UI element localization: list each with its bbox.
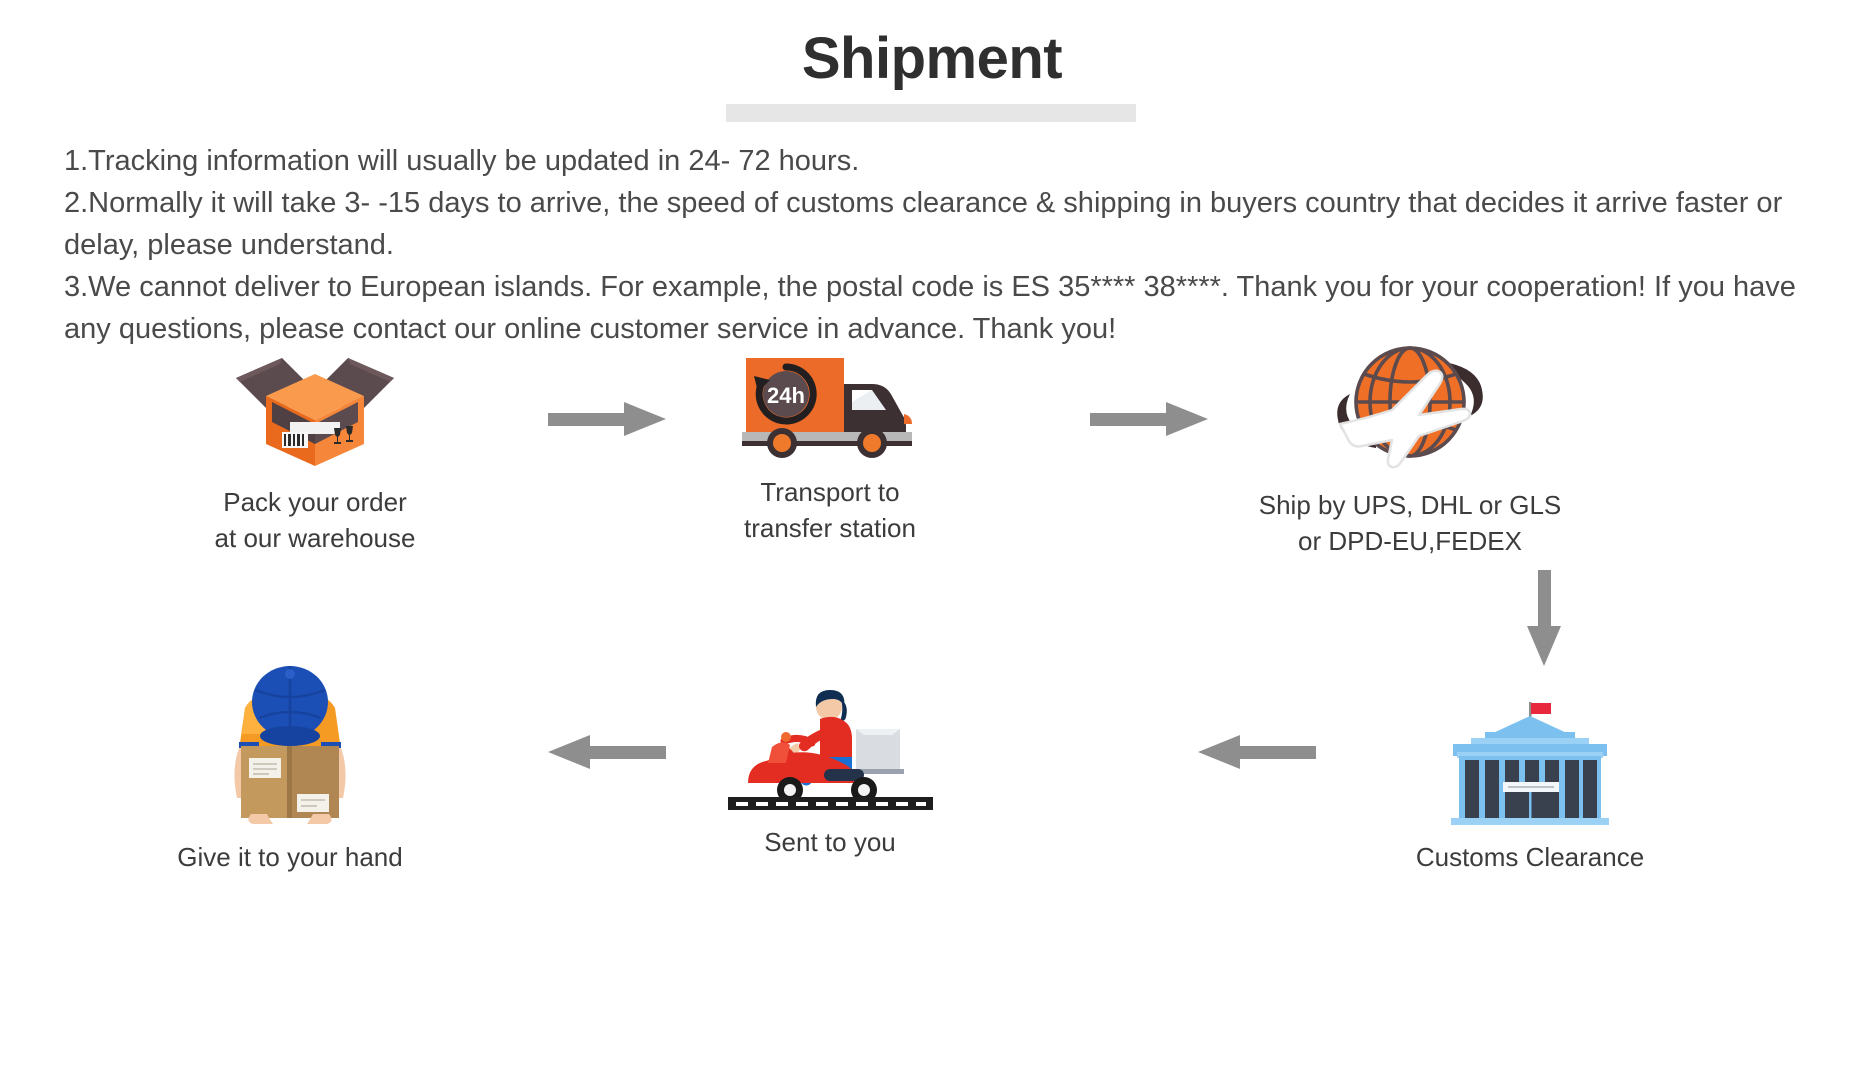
page-title-wrap: Shipment (0, 30, 1864, 88)
flow-step-transport: 24h Transport (690, 350, 970, 546)
arrow-shaft (548, 413, 626, 426)
arrow-head (1198, 735, 1240, 769)
courier-with-box-icon (215, 660, 365, 825)
shipment-notes: 1.Tracking information will usually be u… (64, 140, 1824, 350)
arrow-customs-to-sent (1198, 735, 1316, 769)
shipment-flow-diagram: Pack your order at our warehouse 24h (0, 330, 1864, 1030)
flow-step-ship-caption: Ship by UPS, DHL or GLS or DPD-EU,FEDEX (1180, 487, 1640, 559)
flow-step-handover: Give it to your hand (110, 660, 470, 875)
open-box-icon (230, 340, 400, 470)
flow-step-handover-caption: Give it to your hand (110, 839, 470, 875)
flow-step-customs: Customs Clearance (1360, 700, 1700, 875)
flow-step-pack-caption: Pack your order at our warehouse (150, 484, 480, 556)
page-title: Shipment (802, 30, 1062, 88)
flow-step-sent-caption: Sent to you (690, 824, 970, 860)
slide-canvas: Shipment 1.Tracking information will usu… (0, 0, 1864, 1080)
flow-step-sent: Sent to you (690, 685, 970, 860)
flow-step-ship: Ship by UPS, DHL or GLS or DPD-EU,FEDEX (1180, 338, 1640, 559)
note-line-1: 1.Tracking information will usually be u… (64, 140, 1824, 182)
arrow-shaft (588, 746, 666, 759)
globe-airplane-icon (1318, 338, 1503, 473)
svg-text:24h: 24h (767, 383, 805, 408)
arrow-head (624, 402, 666, 436)
arrow-head (1527, 626, 1561, 666)
customs-building-icon (1445, 700, 1615, 825)
scooter-courier-icon (728, 685, 933, 810)
flow-step-transport-caption: Transport to transfer station (690, 474, 970, 546)
arrow-shaft (1238, 746, 1316, 759)
arrow-pack-to-transport (548, 402, 666, 436)
arrow-shaft (1090, 413, 1168, 426)
arrow-ship-to-customs (1527, 570, 1561, 660)
title-underline-bar (726, 104, 1136, 122)
flow-step-pack: Pack your order at our warehouse (150, 340, 480, 556)
arrow-sent-to-handover (548, 735, 666, 769)
arrow-shaft (1538, 570, 1551, 628)
arrow-head (548, 735, 590, 769)
flow-step-customs-caption: Customs Clearance (1360, 839, 1700, 875)
delivery-truck-icon: 24h (740, 350, 920, 460)
note-line-2: 2.Normally it will take 3- -15 days to a… (64, 182, 1824, 266)
